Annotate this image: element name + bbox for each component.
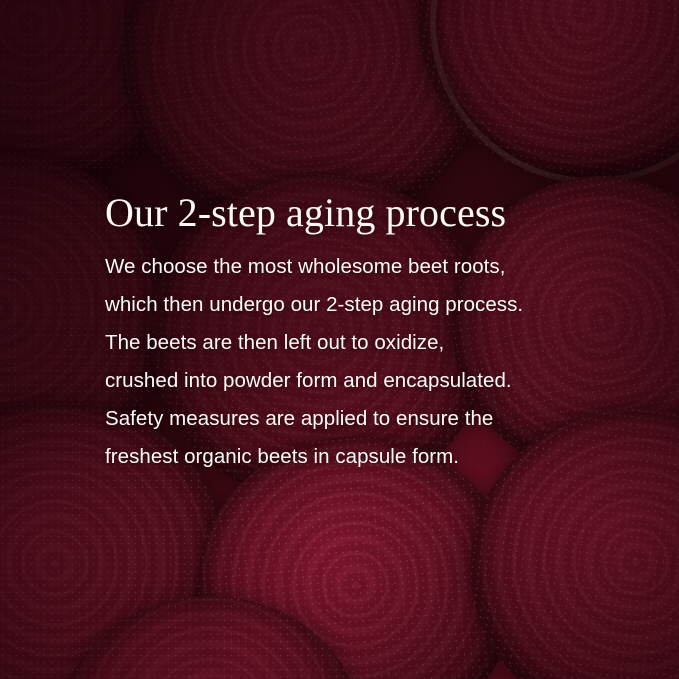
page-title: Our 2-step aging process: [105, 192, 605, 234]
body-line: The beets are then left out to oxidize,: [105, 324, 605, 362]
body-paragraph: We choose the most wholesome beet roots,…: [105, 248, 605, 476]
body-line: We choose the most wholesome beet roots,: [105, 248, 605, 286]
body-line: freshest organic beets in capsule form.: [105, 438, 605, 476]
copy-block: Our 2-step aging process We choose the m…: [105, 192, 605, 476]
body-line: crushed into powder form and encapsulate…: [105, 362, 605, 400]
body-line: Safety measures are applied to ensure th…: [105, 400, 605, 438]
beet-aging-process-poster: Our 2-step aging process We choose the m…: [0, 0, 679, 679]
body-line: which then undergo our 2-step aging proc…: [105, 286, 605, 324]
